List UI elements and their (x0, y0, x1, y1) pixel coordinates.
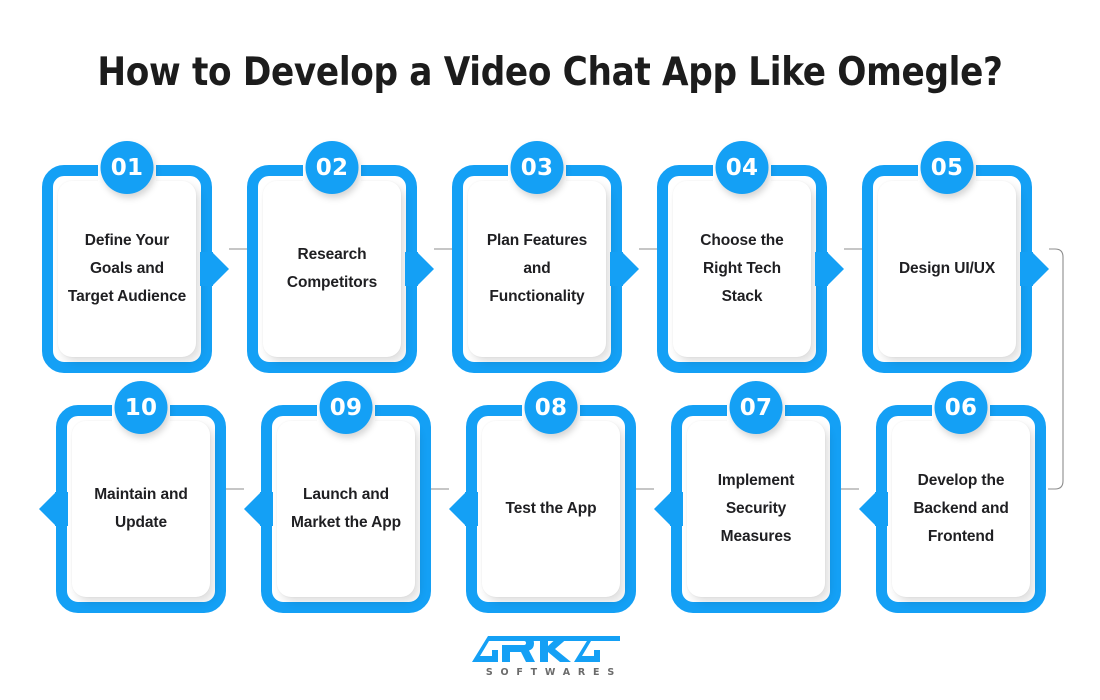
step-label: Design UI/UX (878, 181, 1016, 357)
arrow-left-icon (654, 492, 671, 526)
arrow-right-icon (622, 252, 639, 286)
arrow-base (670, 492, 683, 526)
arrow-right-icon (827, 252, 844, 286)
step-number-badge: 10 (115, 381, 168, 434)
step-number-badge: 01 (101, 141, 154, 194)
step-label: Choose the Right Tech Stack (673, 181, 811, 357)
arrow-right-icon (417, 252, 434, 286)
step-label: Research Competitors (263, 181, 401, 357)
step-number-badge: 02 (306, 141, 359, 194)
step-card-03[interactable]: Plan Features and Functionality 03 (452, 165, 622, 373)
connector-05-06 (1048, 249, 1063, 489)
step-card-09[interactable]: Launch and Market the App 09 (261, 405, 431, 613)
step-label: Test the App (482, 421, 620, 597)
step-card-10[interactable]: Maintain and Update 10 (56, 405, 226, 613)
step-label: Implement Security Measures (687, 421, 825, 597)
step-number-badge: 04 (716, 141, 769, 194)
step-card-05[interactable]: Design UI/UX 05 (862, 165, 1032, 373)
arrow-left-icon (39, 492, 56, 526)
step-card-06[interactable]: Develop the Backend and Frontend 06 (876, 405, 1046, 613)
step-label: Launch and Market the App (277, 421, 415, 597)
logo-subtitle: SOFTWARES (478, 667, 622, 678)
arrow-base (465, 492, 478, 526)
page-title: How to Develop a Video Chat App Like Ome… (66, 48, 1034, 98)
arrow-left-icon (859, 492, 876, 526)
arrow-left-icon (449, 492, 466, 526)
step-card-04[interactable]: Choose the Right Tech Stack 04 (657, 165, 827, 373)
step-label: Develop the Backend and Frontend (892, 421, 1030, 597)
step-card-07[interactable]: Implement Security Measures 07 (671, 405, 841, 613)
step-number-badge: 07 (730, 381, 783, 434)
arrow-left-icon (244, 492, 261, 526)
step-card-02[interactable]: Research Competitors 02 (247, 165, 417, 373)
step-label: Maintain and Update (72, 421, 210, 597)
arrow-base (55, 492, 68, 526)
arka-wordmark-icon (470, 634, 630, 664)
step-number-badge: 05 (921, 141, 974, 194)
arrow-right-icon (1032, 252, 1049, 286)
step-number-badge: 03 (511, 141, 564, 194)
step-card-01[interactable]: Define Your Goals and Target Audience 01 (42, 165, 212, 373)
step-number-badge: 09 (320, 381, 373, 434)
step-number-badge: 06 (935, 381, 988, 434)
infographic-canvas: How to Develop a Video Chat App Like Ome… (0, 0, 1100, 700)
step-card-08[interactable]: Test the App 08 (466, 405, 636, 613)
step-label: Plan Features and Functionality (468, 181, 606, 357)
arrow-base (260, 492, 273, 526)
arrow-right-icon (212, 252, 229, 286)
arrow-base (875, 492, 888, 526)
step-number-badge: 08 (525, 381, 578, 434)
brand-logo: SOFTWARES (0, 634, 1100, 678)
step-label: Define Your Goals and Target Audience (58, 181, 196, 357)
